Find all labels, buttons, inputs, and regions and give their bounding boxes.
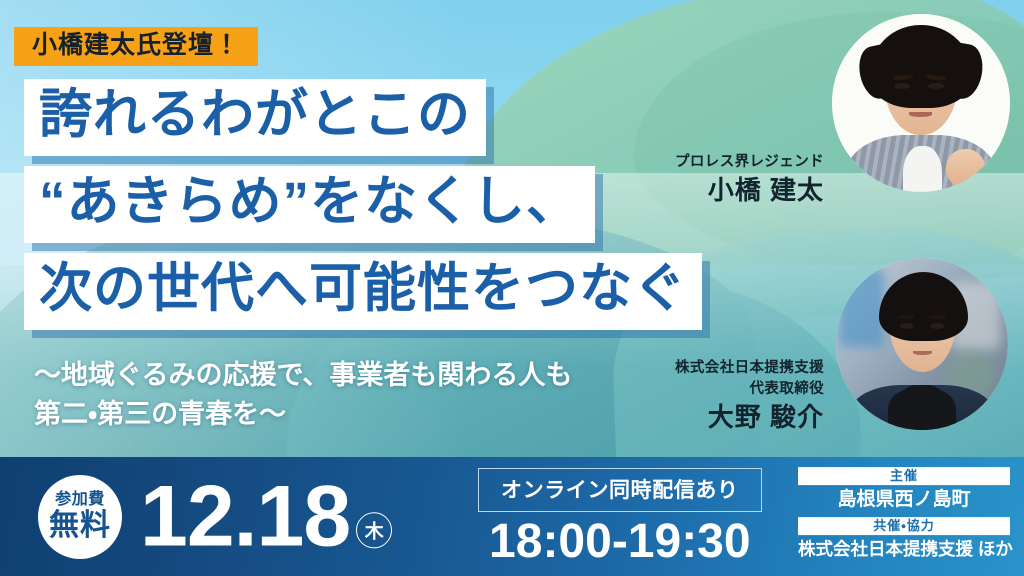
hand-icon — [946, 149, 985, 188]
speaker-announcement-badge: 小橋建太氏登壇！ — [14, 27, 258, 66]
eyebrow-right-icon — [929, 315, 946, 319]
date-value: 12.18 — [140, 478, 350, 555]
speaker-1-info: プロレス界レジェンド 小橋 建太 — [675, 152, 824, 206]
host-name: 島根県西ノ島町 — [798, 485, 1010, 518]
event-date: 12.18 木 — [140, 478, 392, 555]
event-poster: 小橋建太氏登壇！ 誇れるわがとこの “あきらめ”をなくし、 次の世代へ可能性をつ… — [0, 0, 1024, 576]
eyebrow-left-icon — [898, 315, 915, 319]
speaker-2-info: 株式会社日本提携支援 代表取締役 大野 駿介 — [675, 358, 824, 433]
subtitle: 〜地域ぐるみの応援で、事業者も関わる人も 第二・第三の青春を〜 — [34, 356, 572, 434]
event-details-bar: 参加費 無料 12.18 木 オンライン同時配信あり 18:00-19:30 主… — [0, 457, 1024, 576]
headline-row-2: “あきらめ”をなくし、 — [24, 166, 702, 253]
headline-row-3: 次の世代へ可能性をつなぐ — [24, 253, 702, 340]
subtitle-line-1: 〜地域ぐるみの応援で、事業者も関わる人も — [34, 356, 572, 395]
time-column: オンライン同時配信あり 18:00-19:30 — [478, 468, 762, 566]
cohost-label: 共催・協力 — [798, 517, 1010, 535]
speaker-1-name: 小橋 建太 — [675, 175, 824, 206]
headline: 誇れるわがとこの “あきらめ”をなくし、 次の世代へ可能性をつなぐ — [24, 79, 702, 340]
shirt-icon — [903, 146, 942, 192]
speaker-2-photo — [836, 258, 1008, 430]
background-blur-blue-icon — [839, 268, 884, 347]
headline-row-1: 誇れるわがとこの — [24, 79, 702, 166]
day-of-week-badge: 木 — [356, 512, 392, 548]
fee-label: 参加費 — [55, 492, 105, 508]
fee-value: 無料 — [49, 511, 111, 541]
speaker-2-company: 株式会社日本提携支援 — [675, 358, 824, 379]
black-tee-icon — [888, 389, 957, 430]
subtitle-line-2: 第二・第三の青春を〜 — [34, 395, 572, 434]
speaker-1-photo — [832, 14, 1010, 192]
free-admission-badge: 参加費 無料 — [38, 475, 122, 559]
headline-line-2: “あきらめ”をなくし、 — [24, 166, 595, 243]
speaker-2-title: 代表取締役 — [675, 379, 824, 400]
online-streaming-note: オンライン同時配信あり — [478, 468, 762, 512]
headline-line-3: 次の世代へ可能性をつなぐ — [24, 253, 702, 330]
speaker-1-role: プロレス界レジェンド — [675, 152, 824, 173]
event-time: 18:00-19:30 — [489, 518, 751, 566]
eye-left-icon — [900, 323, 914, 328]
cohost-name: 株式会社日本提携支援 ほか — [798, 535, 1010, 566]
host-label: 主催 — [798, 467, 1010, 485]
speaker-2-name: 大野 駿介 — [675, 402, 824, 433]
eye-right-icon — [931, 323, 945, 328]
headline-line-1: 誇れるわがとこの — [24, 79, 486, 156]
organizer-column: 主催 島根県西ノ島町 共催・協力 株式会社日本提携支援 ほか — [798, 467, 1010, 567]
